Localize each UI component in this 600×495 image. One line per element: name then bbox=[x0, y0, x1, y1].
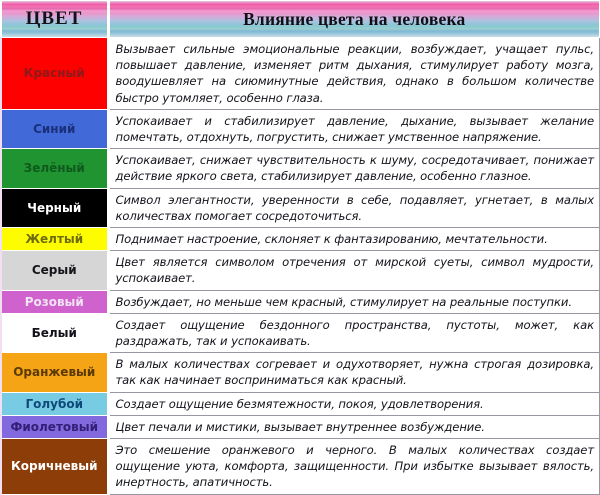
color-name-label: Оранжевый bbox=[13, 365, 95, 379]
color-swatch-cell: Оранжевый bbox=[1, 353, 108, 392]
color-swatch-cell: Фиолетовый bbox=[1, 415, 108, 438]
table-row: КоричневыйЭто смешение оранжевого и черн… bbox=[1, 439, 600, 495]
color-name-label: Фиолетовый bbox=[10, 420, 98, 434]
color-description-text: Создает ощущение бездонного пространства… bbox=[116, 317, 595, 349]
column-header-color-label: ЦВЕТ bbox=[26, 8, 83, 29]
color-description-cell: Успокаивает и стабилизирует давление, ды… bbox=[108, 109, 600, 148]
color-description-cell: Цвет печали и мистики, вызывает внутренн… bbox=[108, 415, 600, 438]
color-influence-table-page: ЦВЕТ Влияние цвета на человека КрасныйВы… bbox=[0, 0, 600, 435]
color-description-text: Создает ощущение безмятежности, покоя, у… bbox=[116, 396, 595, 412]
color-swatch-cell: Коричневый bbox=[1, 439, 108, 495]
color-description-text: В малых количествах согревает и одухотво… bbox=[116, 356, 595, 388]
color-description-cell: Поднимает настроение, склоняет к фантази… bbox=[108, 228, 600, 251]
color-description-text: Успокаивает и стабилизирует давление, ды… bbox=[116, 113, 595, 145]
color-influence-table: ЦВЕТ Влияние цвета на человека КрасныйВы… bbox=[0, 0, 600, 495]
color-name-label: Белый bbox=[32, 326, 77, 340]
table-row: ФиолетовыйЦвет печали и мистики, вызывае… bbox=[1, 415, 600, 438]
color-description-text: Символ элегантности, уверенности в себе,… bbox=[116, 192, 595, 224]
color-name-label: Черный bbox=[27, 201, 81, 215]
color-name-label: Желтый bbox=[25, 232, 83, 246]
color-swatch-cell: Черный bbox=[1, 188, 108, 227]
table-row: СинийУспокаивает и стабилизирует давлени… bbox=[1, 109, 600, 148]
color-name-label: Серый bbox=[32, 263, 77, 277]
color-swatch-cell: Зелёный bbox=[1, 149, 108, 188]
table-row: СерыйЦвет является символом отречения от… bbox=[1, 251, 600, 290]
color-description-cell: Это смешение оранжевого и черного. В мал… bbox=[108, 439, 600, 495]
table-row: КрасныйВызывает сильные эмоциональные ре… bbox=[1, 38, 600, 110]
color-name-label: Голубой bbox=[25, 397, 83, 411]
table-row: ЧерныйСимвол элегантности, уверенности в… bbox=[1, 188, 600, 227]
color-description-cell: Создает ощущение безмятежности, покоя, у… bbox=[108, 392, 600, 415]
color-description-cell: Успокаивает, снижает чувствительность к … bbox=[108, 149, 600, 188]
table-row: ОранжевыйВ малых количествах согревает и… bbox=[1, 353, 600, 392]
color-swatch-cell: Красный bbox=[1, 38, 108, 110]
table-head: ЦВЕТ Влияние цвета на человека bbox=[1, 1, 600, 38]
color-name-label: Красный bbox=[24, 66, 85, 80]
column-header-influence: Влияние цвета на человека bbox=[108, 1, 600, 38]
color-description-text: Поднимает настроение, склоняет к фантази… bbox=[116, 231, 595, 247]
color-description-cell: В малых количествах согревает и одухотво… bbox=[108, 353, 600, 392]
color-description-text: Возбуждает, но меньше чем красный, стиму… bbox=[116, 294, 595, 310]
color-description-text: Цвет печали и мистики, вызывает внутренн… bbox=[116, 419, 595, 435]
table-row: РозовыйВозбуждает, но меньше чем красный… bbox=[1, 290, 600, 313]
table-row: ЖелтыйПоднимает настроение, склоняет к ф… bbox=[1, 228, 600, 251]
color-swatch-cell: Желтый bbox=[1, 228, 108, 251]
color-description-text: Цвет является символом отречения от мирс… bbox=[116, 254, 595, 286]
table-header-row: ЦВЕТ Влияние цвета на человека bbox=[1, 1, 600, 38]
color-description-cell: Символ элегантности, уверенности в себе,… bbox=[108, 188, 600, 227]
table-body: КрасныйВызывает сильные эмоциональные ре… bbox=[1, 38, 600, 495]
color-name-label: Зелёный bbox=[24, 161, 85, 175]
color-name-label: Розовый bbox=[25, 295, 84, 309]
table-row: БелыйСоздает ощущение бездонного простра… bbox=[1, 313, 600, 352]
color-description-text: Это смешение оранжевого и черного. В мал… bbox=[116, 442, 595, 491]
color-description-text: Успокаивает, снижает чувствительность к … bbox=[116, 152, 595, 184]
color-description-cell: Цвет является символом отречения от мирс… bbox=[108, 251, 600, 290]
page-title: Влияние цвета на человека bbox=[243, 9, 465, 29]
color-description-cell: Возбуждает, но меньше чем красный, стиму… bbox=[108, 290, 600, 313]
color-description-text: Вызывает сильные эмоциональные реакции, … bbox=[116, 41, 595, 106]
color-name-label: Синий bbox=[33, 122, 75, 136]
color-name-label: Коричневый bbox=[11, 459, 98, 473]
table-row: ГолубойСоздает ощущение безмятежности, п… bbox=[1, 392, 600, 415]
color-swatch-cell: Розовый bbox=[1, 290, 108, 313]
table-row: ЗелёныйУспокаивает, снижает чувствительн… bbox=[1, 149, 600, 188]
color-description-cell: Создает ощущение бездонного пространства… bbox=[108, 313, 600, 352]
color-description-cell: Вызывает сильные эмоциональные реакции, … bbox=[108, 38, 600, 110]
color-swatch-cell: Серый bbox=[1, 251, 108, 290]
column-header-color: ЦВЕТ bbox=[1, 1, 108, 38]
color-swatch-cell: Голубой bbox=[1, 392, 108, 415]
color-swatch-cell: Белый bbox=[1, 313, 108, 352]
color-swatch-cell: Синий bbox=[1, 109, 108, 148]
